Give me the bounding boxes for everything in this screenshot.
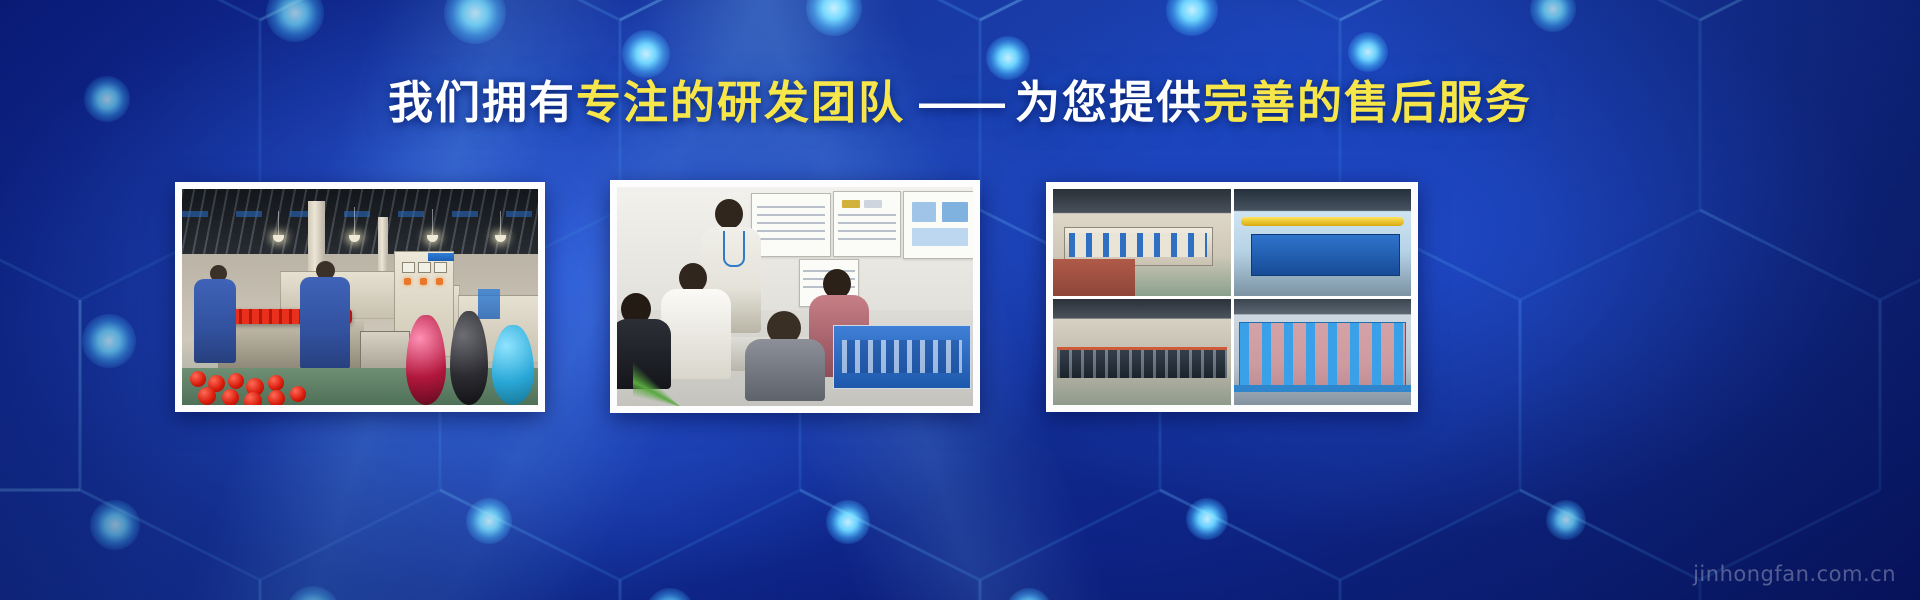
workshop-roof xyxy=(182,189,538,254)
product-ball xyxy=(244,392,262,405)
collage-cell-conveyor xyxy=(1053,299,1231,406)
photo-frame-technical-meeting[interactable] xyxy=(610,180,980,413)
product-ball xyxy=(268,375,284,391)
product-ball xyxy=(290,386,306,402)
wall-poster xyxy=(833,191,901,257)
person-foreground xyxy=(745,339,825,401)
collage-cell-blue-line xyxy=(1234,189,1412,296)
headline-separator: —— xyxy=(905,77,1015,128)
photo-equipment-collage xyxy=(1053,189,1411,405)
product-vase-red xyxy=(406,315,446,405)
wall-poster-diagram xyxy=(903,191,973,259)
person-head xyxy=(715,199,743,229)
photo-frame-factory-line[interactable] xyxy=(175,182,545,412)
palm-plant xyxy=(633,355,729,406)
collage-cell-rack-system xyxy=(1234,299,1412,406)
product-vase-blue xyxy=(492,325,534,405)
storage-crate xyxy=(360,331,410,371)
promo-banner: 我们拥有专注的研发团队——为您提供完善的售后服务 xyxy=(0,0,1920,600)
product-ball xyxy=(222,389,239,405)
product-ball xyxy=(268,390,285,405)
photo-frame-equipment-collage[interactable] xyxy=(1046,182,1418,412)
photo-technical-meeting xyxy=(617,187,973,406)
product-ball xyxy=(190,371,206,387)
collage-cell-production-hall xyxy=(1053,189,1231,296)
lanyard xyxy=(723,231,745,267)
worker-center xyxy=(300,277,350,369)
site-watermark: jinhongfan.com.cn xyxy=(1693,562,1896,586)
worker-left xyxy=(194,279,236,363)
page-title: 我们拥有专注的研发团队——为您提供完善的售后服务 xyxy=(0,78,1920,128)
product-ball xyxy=(228,373,244,389)
product-ball xyxy=(198,387,216,405)
photo-factory-line xyxy=(182,189,538,405)
wall-signage xyxy=(478,289,500,319)
wall-poster xyxy=(751,193,831,257)
product-vase-black xyxy=(450,311,488,405)
equipment-photo-inset xyxy=(833,325,971,389)
photo-gallery xyxy=(0,180,1920,415)
headline-segment-4: 完善的售后服务 xyxy=(1203,77,1532,128)
headline-segment-2: 专注的研发团队 xyxy=(576,77,905,128)
headline-segment-3: 为您提供 xyxy=(1015,77,1203,128)
panel-nameplate xyxy=(428,253,454,261)
headline-segment-1: 我们拥有 xyxy=(388,77,576,128)
